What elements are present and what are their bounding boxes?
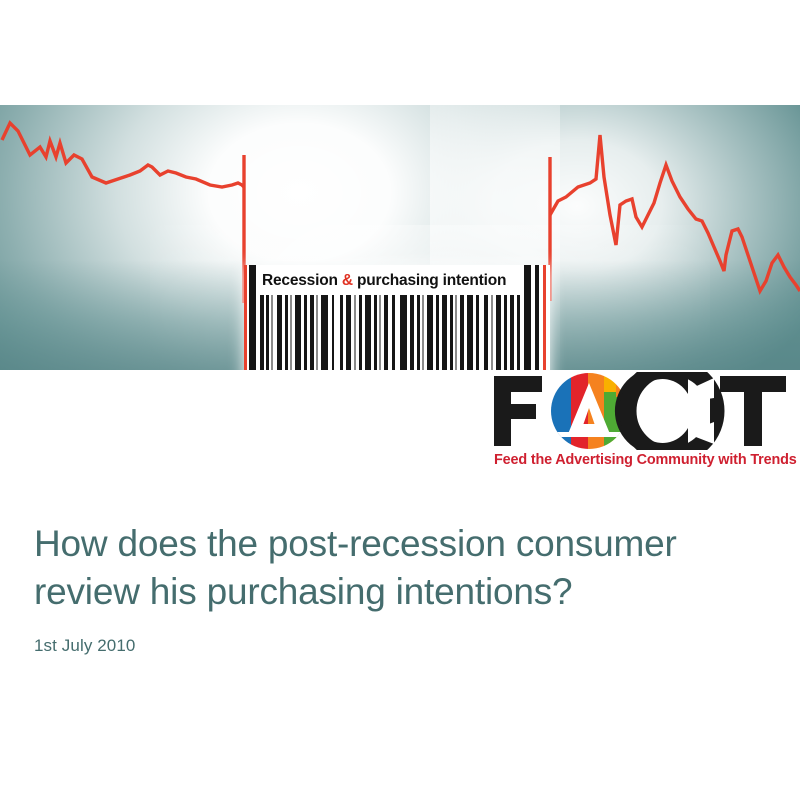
page-title-line-2: review his purchasing intentions?	[34, 571, 572, 612]
barcode-graphic: Recession & purchasing intention	[244, 265, 550, 370]
barcode-title-suffix: purchasing intention	[353, 272, 506, 289]
page-title-line-1: How does the post-recession consumer	[34, 523, 677, 564]
hero-banner: Recession & purchasing intention	[0, 105, 800, 370]
presentation-date: 1st July 2010	[34, 636, 754, 656]
fact-logo: Feed the Advertising Community with Tren…	[492, 372, 788, 476]
logo-letter-t-icon	[720, 376, 786, 446]
fact-logo-tagline: Feed the Advertising Community with Tren…	[494, 452, 788, 468]
fact-logo-letters	[492, 372, 788, 450]
logo-letter-f-icon	[494, 376, 542, 446]
logo-letter-c-icon	[615, 372, 716, 450]
page-title: How does the post-recession consumerrevi…	[34, 520, 754, 616]
barcode-title: Recession & purchasing intention	[262, 272, 542, 290]
title-block: How does the post-recession consumerrevi…	[34, 520, 754, 656]
barcode-title-prefix: Recession	[262, 272, 342, 289]
barcode-title-ampersand: &	[342, 272, 353, 289]
barcode-bars	[244, 295, 550, 370]
